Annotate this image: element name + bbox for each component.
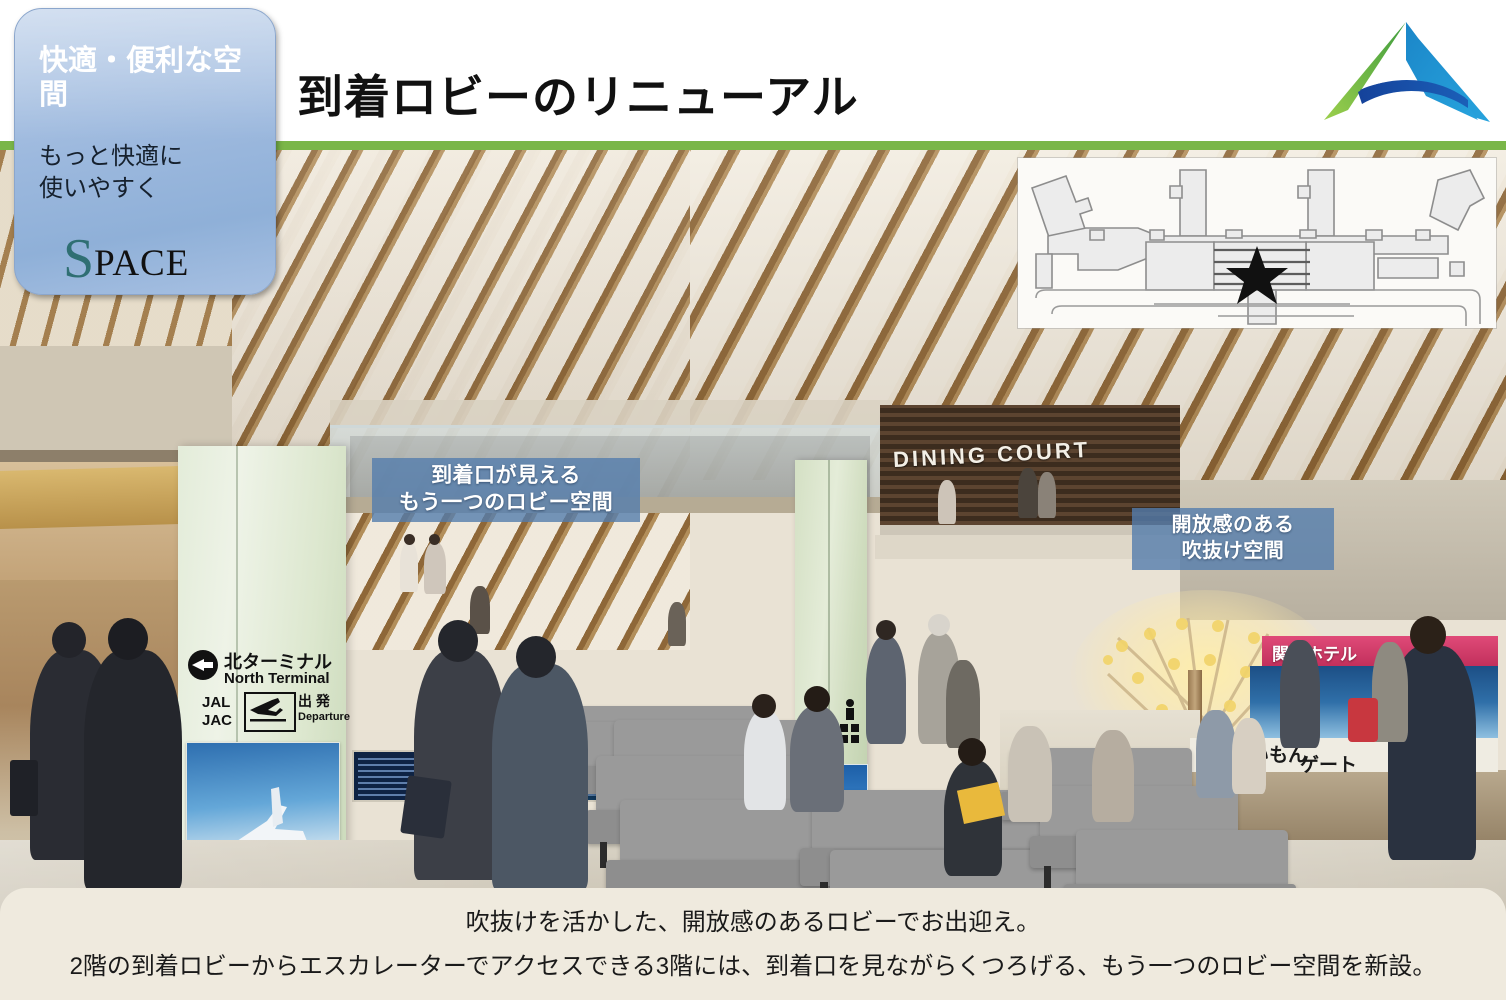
person-head [804,686,830,712]
suitcase [1348,698,1378,742]
caption-line-2: 2階の到着ロビーからエスカレーターでアクセスできる3階には、到着口を見ながらくつ… [0,946,1506,981]
person-silhouette [790,706,844,812]
person-silhouette [1018,468,1038,518]
terminal-directional-sign: 北ターミナル North Terminal JALJAC 出 発 Departu… [188,648,338,734]
terminal-floor-plan-inset [1018,158,1496,328]
person-head [438,620,478,662]
kansai-airports-logo [1318,12,1494,130]
caption-line-1: 吹抜けを活かした、開放感のあるロビーでお出迎え。 [0,902,1506,937]
badge-wordmark-initial: S [63,228,94,290]
departure-label: 出 発 Departure [298,693,350,724]
badge-subtitle: もっと快適に使いやすく [39,141,264,204]
person-head [52,622,86,658]
callout-arrival-view-text: 到着口が見えるもう一つのロビー空間 [399,463,613,517]
person-head [516,636,556,678]
page-title: 到着ロビーのリニューアル [297,74,859,120]
person-head [404,534,415,545]
badge-heading: 快適・便利な空間 [39,45,264,113]
person-head [928,614,950,636]
person-silhouette [1008,726,1052,822]
person-head [108,618,148,660]
badge-wordmark-rest: PACE [94,243,189,284]
slide-root: 到着ロビーのリニューアル [0,0,1506,1000]
suitcase [10,760,38,816]
person-head [1410,616,1446,654]
airline-codes: JALJAC [202,694,232,730]
person-silhouette [1092,730,1134,822]
person-head [429,534,440,545]
person-silhouette [1196,710,1236,798]
left-arrow-circle-icon [188,650,218,680]
briefcase [400,775,452,839]
person-silhouette [1038,472,1056,518]
terminal-name-en: North Terminal [224,670,330,687]
callout-atrium: 開放感のある吹抜け空間 [1132,508,1334,570]
callout-arrival-view: 到着口が見えるもう一つのロビー空間 [372,458,640,522]
departure-en: Departure [298,711,350,725]
person-silhouette [1232,718,1266,794]
airplane-departure-icon [244,692,296,732]
person-silhouette [400,542,418,592]
callout-atrium-text: 開放感のある吹抜け空間 [1172,513,1295,564]
person-silhouette [424,542,446,594]
person-silhouette [1280,640,1320,748]
person-head [876,620,896,640]
person-silhouette [492,664,588,890]
person-silhouette [84,650,182,890]
person-silhouette [668,602,686,646]
space-badge: 快適・便利な空間 もっと快適に使いやすく SPACE [14,8,276,295]
green-divider [281,141,1506,150]
person-silhouette [744,710,786,810]
person-silhouette [938,480,956,524]
person-head [752,694,776,718]
shop-gate-right-text: ゲート [1300,750,1357,777]
caption-panel: 吹抜けを活かした、開放感のあるロビーでお出迎え。 2階の到着ロビーからエスカレー… [0,888,1506,1000]
person-silhouette [946,660,980,748]
badge-wordmark: SPACE [63,231,189,287]
departure-jp: 出 発 [298,693,330,709]
person-silhouette [866,636,906,744]
person-head [958,738,986,766]
